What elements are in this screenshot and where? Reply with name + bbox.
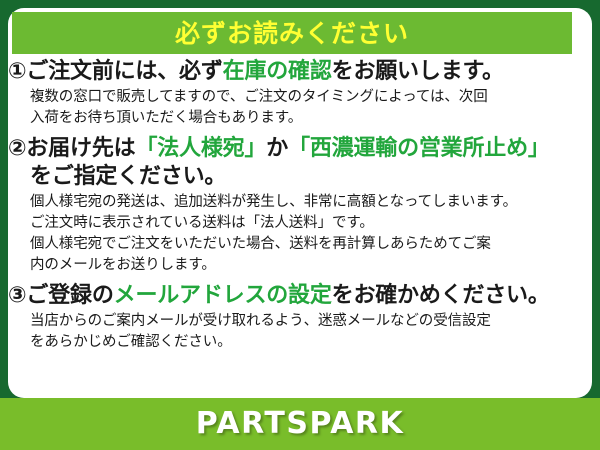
notice-item-1-heading-part-1: ①ご注文前には、必ず bbox=[8, 59, 223, 84]
notice-item-2-heading: ②お届け先は「法人様宛」か「西濃運輸の営業所止め」 bbox=[8, 135, 578, 162]
notice-item-2: ②お届け先は「法人様宛」か「西濃運輸の営業所止め」 をご指定ください。 個人様宅… bbox=[8, 135, 578, 276]
notice-item-1-body-line-1: 複数の窓口で販売してますので、ご注文のタイミングによっては、次回 bbox=[30, 87, 578, 108]
notice-item-3-heading-part-3: をお確かめください。 bbox=[332, 283, 550, 308]
notice-item-3-heading-part-1: ③ご登録の bbox=[8, 283, 114, 308]
notice-items: ①ご注文前には、必ず在庫の確認をお願いします。 複数の窓口で販売してますので、ご… bbox=[0, 58, 584, 359]
notice-item-3: ③ご登録のメールアドレスの設定をお確かめください。 当店からのご案内メールが受け… bbox=[8, 282, 578, 353]
notice-item-2-body-line-2: ご注文時に表示されている送料は「法人送料」です。 bbox=[30, 213, 578, 234]
notice-item-1-body: 複数の窓口で販売してますので、ご注文のタイミングによっては、次回 入荷をお待ち頂… bbox=[8, 87, 578, 129]
partspark-logo: PARTSPARK bbox=[196, 409, 405, 439]
notice-item-1-emphasis: 在庫の確認 bbox=[223, 59, 332, 84]
footer-band: PARTSPARK bbox=[0, 398, 600, 450]
notice-item-3-body-line-1: 当店からのご案内メールが受け取れるよう、迷惑メールなどの受信設定 bbox=[30, 311, 578, 332]
notice-item-2-body-line-4: 内のメールをお送りします。 bbox=[30, 255, 578, 276]
notice-item-1-body-line-2: 入荷をお待ち頂いただく場合もあります。 bbox=[30, 108, 578, 129]
notice-item-2-body: 個人様宅宛の発送は、追加送料が発生し、非常に高額となってしまいます。 ご注文時に… bbox=[8, 192, 578, 276]
page-title: 必ずお読みください bbox=[175, 21, 409, 46]
notice-item-3-emphasis: メールアドレスの設定 bbox=[114, 283, 332, 308]
notice-item-3-body-line-2: をあらかじめご確認ください。 bbox=[30, 332, 578, 353]
notice-item-1: ①ご注文前には、必ず在庫の確認をお願いします。 複数の窓口で販売してますので、ご… bbox=[8, 58, 578, 129]
notice-banner: 必ずお読みください ①ご注文前には、必ず在庫の確認をお願いします。 複数の窓口で… bbox=[0, 0, 600, 450]
notice-item-3-heading: ③ご登録のメールアドレスの設定をお確かめください。 bbox=[8, 282, 578, 309]
notice-item-3-body: 当店からのご案内メールが受け取れるよう、迷惑メールなどの受信設定 をあらかじめご… bbox=[8, 311, 578, 353]
notice-item-2-heading-part-1: ②お届け先は bbox=[8, 136, 135, 161]
notice-item-2-heading-continuation: をご指定ください。 bbox=[8, 163, 578, 190]
notice-item-1-heading-part-3: をお願いします。 bbox=[332, 59, 504, 84]
notice-item-1-heading: ①ご注文前には、必ず在庫の確認をお願いします。 bbox=[8, 58, 578, 85]
notice-item-2-body-line-1: 個人様宅宛の発送は、追加送料が発生し、非常に高額となってしまいます。 bbox=[30, 192, 578, 213]
notice-item-2-heading-part-3: か bbox=[266, 136, 288, 161]
notice-item-2-emphasis-1: 「法人様宛」 bbox=[135, 136, 266, 161]
notice-item-2-emphasis-2: 「西濃運輸の営業所止め」 bbox=[288, 136, 550, 161]
header-band: 必ずお読みください bbox=[12, 12, 572, 54]
notice-item-2-body-line-3: 個人様宅宛でご注文をいただいた場合、送料を再計算しあらためてご案 bbox=[30, 234, 578, 255]
